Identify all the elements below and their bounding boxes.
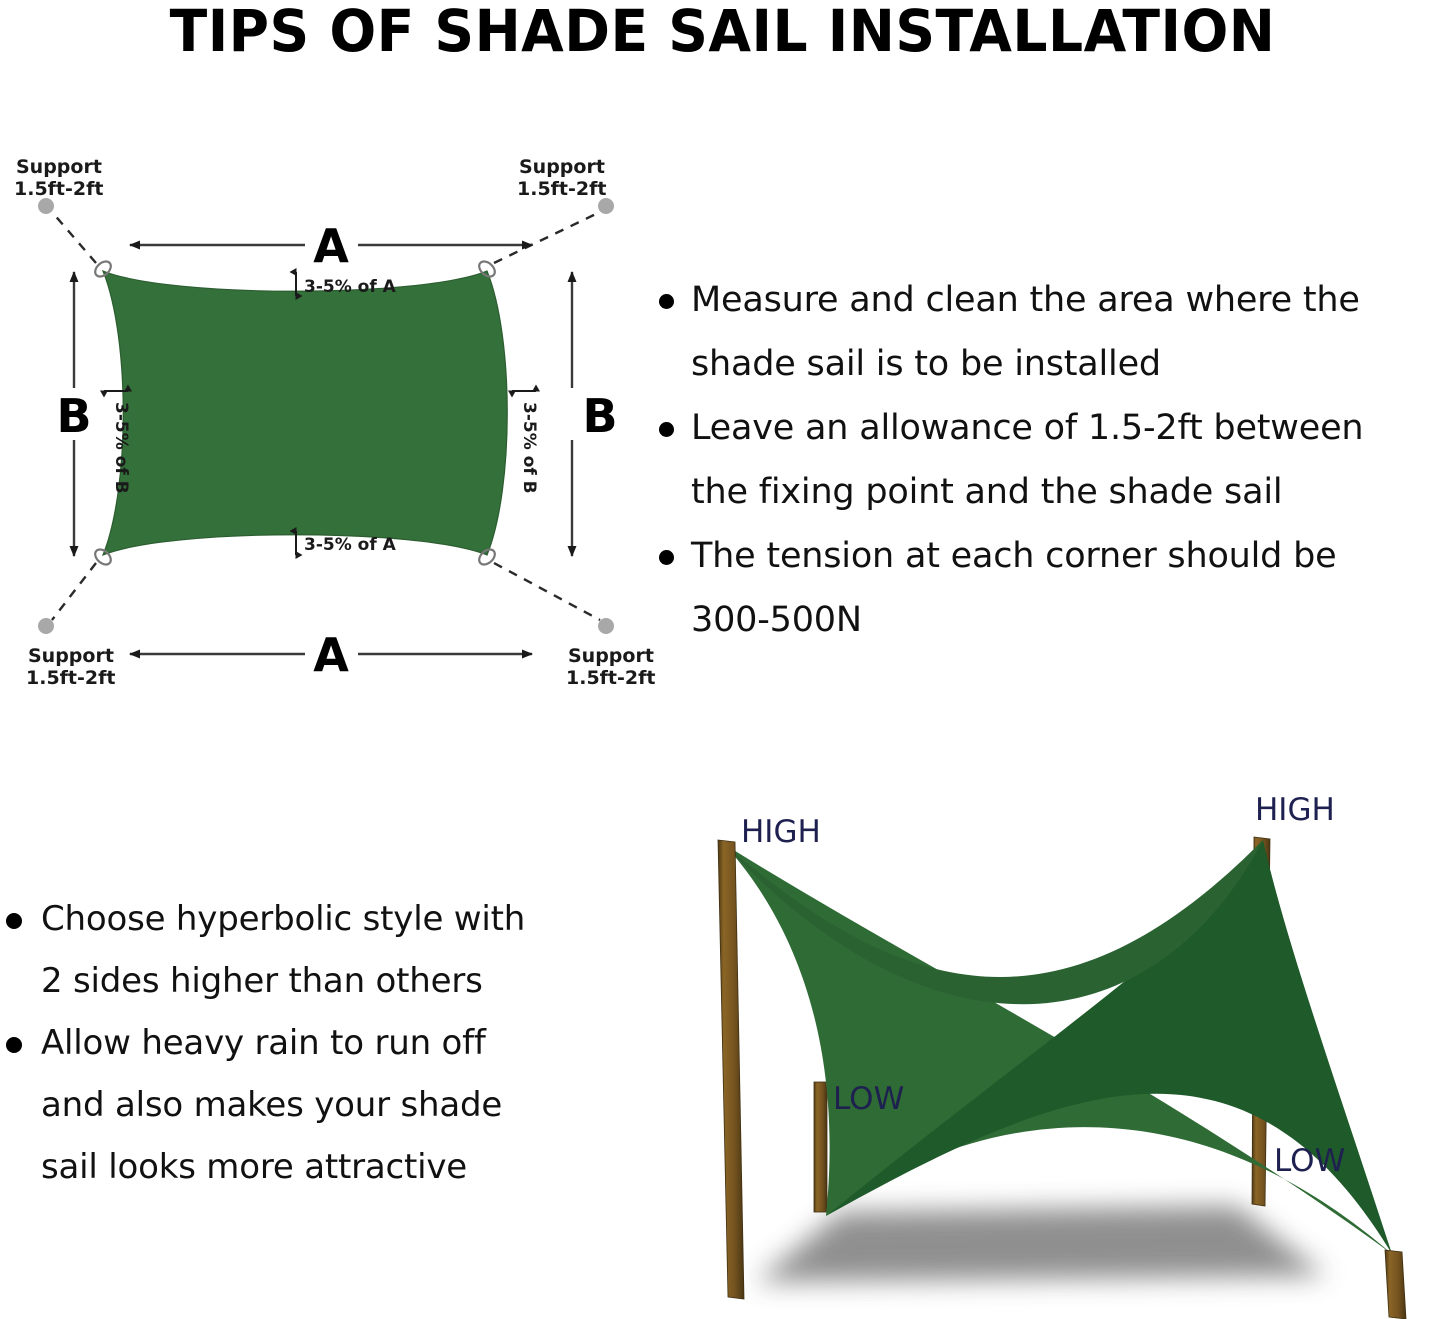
tip-line: Allow heavy rain to run off bbox=[41, 1012, 620, 1074]
curve-label-right: 3-5% of B bbox=[519, 402, 539, 494]
rectangle-shade-sail-dimension-diagram: Support 1.5ft-2ft Support 1.5ft-2ft Supp… bbox=[0, 150, 660, 740]
list-item: The tension at each corner should be 300… bbox=[648, 524, 1445, 652]
corner-label-high-left: HIGH bbox=[741, 814, 821, 850]
list-item: Leave an allowance of 1.5-2ft between th… bbox=[648, 396, 1445, 524]
support-post-low-left bbox=[814, 1082, 827, 1212]
installation-tips-list-top: Measure and clean the area where the sha… bbox=[648, 268, 1445, 652]
list-item: Allow heavy rain to run off and also mak… bbox=[0, 1012, 620, 1198]
tip-line: The tension at each corner should be bbox=[691, 524, 1445, 588]
curve-callout-bottom: 3-5% of A bbox=[296, 531, 397, 555]
corner-label-low-right: LOW bbox=[1274, 1143, 1345, 1179]
installation-tips-list-bottom: Choose hyperbolic style with 2 sides hig… bbox=[0, 888, 620, 1198]
support-label-top-left: Support 1.5ft-2ft bbox=[14, 156, 103, 200]
support-label-bottom-right: Support 1.5ft-2ft bbox=[566, 645, 655, 689]
curve-callout-left: 3-5% of B bbox=[104, 391, 131, 494]
tip-line: sail looks more attractive bbox=[41, 1136, 620, 1198]
tip-line: shade sail is to be installed bbox=[691, 332, 1445, 396]
dimension-label-B-right: B bbox=[582, 389, 617, 443]
list-item: Measure and clean the area where the sha… bbox=[648, 268, 1445, 396]
support-label-top-right: Support 1.5ft-2ft bbox=[517, 156, 606, 200]
curve-label-bottom: 3-5% of A bbox=[304, 535, 397, 555]
corner-label-low-left: LOW bbox=[833, 1081, 904, 1117]
support-label-line2: 1.5ft-2ft bbox=[566, 667, 655, 689]
curve-callout-right: 3-5% of B bbox=[512, 391, 539, 494]
tip-line: the fixing point and the shade sail bbox=[691, 460, 1445, 524]
support-label-line1: Support bbox=[28, 645, 114, 667]
sail-shape bbox=[103, 271, 507, 555]
corner-label-high-right: HIGH bbox=[1255, 792, 1335, 828]
curve-callout-top: 3-5% of A bbox=[296, 272, 397, 297]
curve-label-top: 3-5% of A bbox=[304, 277, 397, 297]
tip-line: 300-500N bbox=[691, 588, 1445, 652]
hyperbolic-saddle-shade-sail-diagram: HIGH HIGH LOW LOW bbox=[636, 782, 1445, 1319]
support-label-bottom-left: Support 1.5ft-2ft bbox=[26, 645, 115, 689]
dimension-label-B-left: B bbox=[56, 389, 91, 443]
tip-line: Choose hyperbolic style with bbox=[41, 888, 620, 950]
support-label-line1: Support bbox=[16, 156, 102, 178]
support-label-line1: Support bbox=[568, 645, 654, 667]
tip-line: and also makes your shade bbox=[41, 1074, 620, 1136]
support-label-line1: Support bbox=[519, 156, 605, 178]
dimension-label-A-top: A bbox=[313, 219, 349, 273]
tips-list: Measure and clean the area where the sha… bbox=[648, 268, 1445, 652]
list-item: Choose hyperbolic style with 2 sides hig… bbox=[0, 888, 620, 1012]
ground-shadow bbox=[756, 1206, 1326, 1282]
support-label-line2: 1.5ft-2ft bbox=[26, 667, 115, 689]
tip-line: Measure and clean the area where the bbox=[691, 268, 1445, 332]
dimension-label-A-bottom: A bbox=[313, 628, 349, 682]
tip-line: Leave an allowance of 1.5-2ft between bbox=[691, 396, 1445, 460]
tip-line: 2 sides higher than others bbox=[41, 950, 620, 1012]
tips-list: Choose hyperbolic style with 2 sides hig… bbox=[0, 888, 620, 1198]
curve-label-left: 3-5% of B bbox=[111, 402, 131, 494]
support-label-line2: 1.5ft-2ft bbox=[517, 178, 606, 200]
support-post-high-left bbox=[718, 840, 744, 1299]
page-title: TIPS OF SHADE SAIL INSTALLATION bbox=[36, 0, 1409, 62]
support-post-low-right bbox=[1385, 1250, 1406, 1319]
support-label-line2: 1.5ft-2ft bbox=[14, 178, 103, 200]
